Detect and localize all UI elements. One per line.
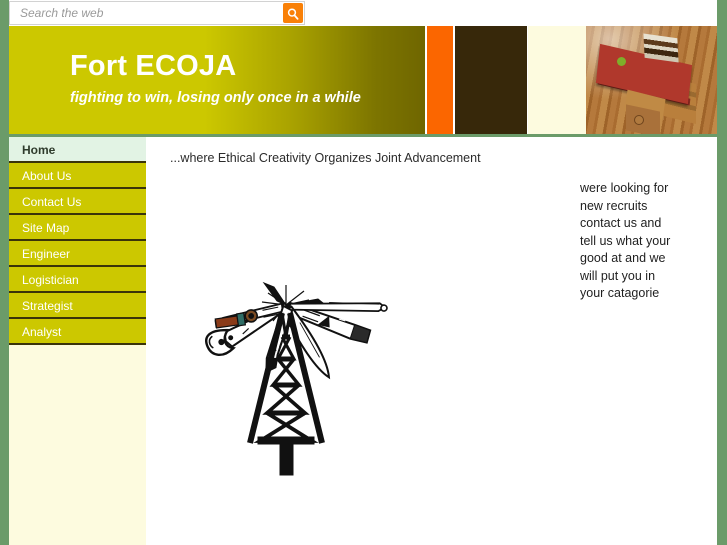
sidebar-item-engineer[interactable]: Engineer (9, 241, 146, 267)
page-subtitle: ...where Ethical Creativity Organizes Jo… (170, 151, 481, 165)
sidebar-item-label: About Us (22, 169, 71, 183)
banner-stripe-cream (528, 26, 586, 134)
recruitment-text: were looking for new recruits contact us… (580, 180, 672, 303)
search-button[interactable] (283, 3, 303, 23)
search-icon (283, 7, 303, 21)
banner-stripe-brown (455, 26, 527, 134)
sidebar-item-contact-us[interactable]: Contact Us (9, 189, 146, 215)
sidebar-item-home[interactable]: Home (9, 137, 146, 163)
books-stack (643, 33, 678, 62)
main-content: ...where Ethical Creativity Organizes Jo… (146, 137, 717, 545)
sidebar-item-label: Home (22, 143, 55, 157)
windmill-tower-weapons-image (178, 187, 396, 477)
sidebar-item-about-us[interactable]: About Us (9, 163, 146, 189)
chair-knob (634, 115, 644, 125)
banner-photo-school-desk (586, 26, 717, 134)
site-tagline: fighting to win, losing only once in a w… (70, 90, 361, 106)
sidebar-item-logistician[interactable]: Logistician (9, 267, 146, 293)
sidebar: Home About Us Contact Us Site Map Engine… (9, 137, 146, 545)
sidebar-item-analyst[interactable]: Analyst (9, 319, 146, 345)
sidebar-item-label: Contact Us (22, 195, 81, 209)
site-title: Fort ECOJA (70, 50, 236, 83)
sidebar-item-label: Analyst (22, 325, 61, 339)
search-bar (9, 0, 717, 26)
page-frame: Fort ECOJA fighting to win, losing only … (0, 0, 727, 545)
sidebar-item-strategist[interactable]: Strategist (9, 293, 146, 319)
banner-stripe-orange (427, 26, 453, 134)
sidebar-item-label: Engineer (22, 247, 70, 261)
sidebar-item-label: Logistician (22, 273, 79, 287)
site-banner: Fort ECOJA fighting to win, losing only … (9, 26, 717, 134)
search-field-wrapper[interactable] (9, 1, 305, 25)
sidebar-item-site-map[interactable]: Site Map (9, 215, 146, 241)
sidebar-item-label: Site Map (22, 221, 69, 235)
apple-icon (617, 57, 626, 66)
banner-gradient-panel: Fort ECOJA fighting to win, losing only … (9, 26, 425, 134)
search-input[interactable] (10, 2, 284, 24)
sidebar-item-label: Strategist (22, 299, 73, 313)
